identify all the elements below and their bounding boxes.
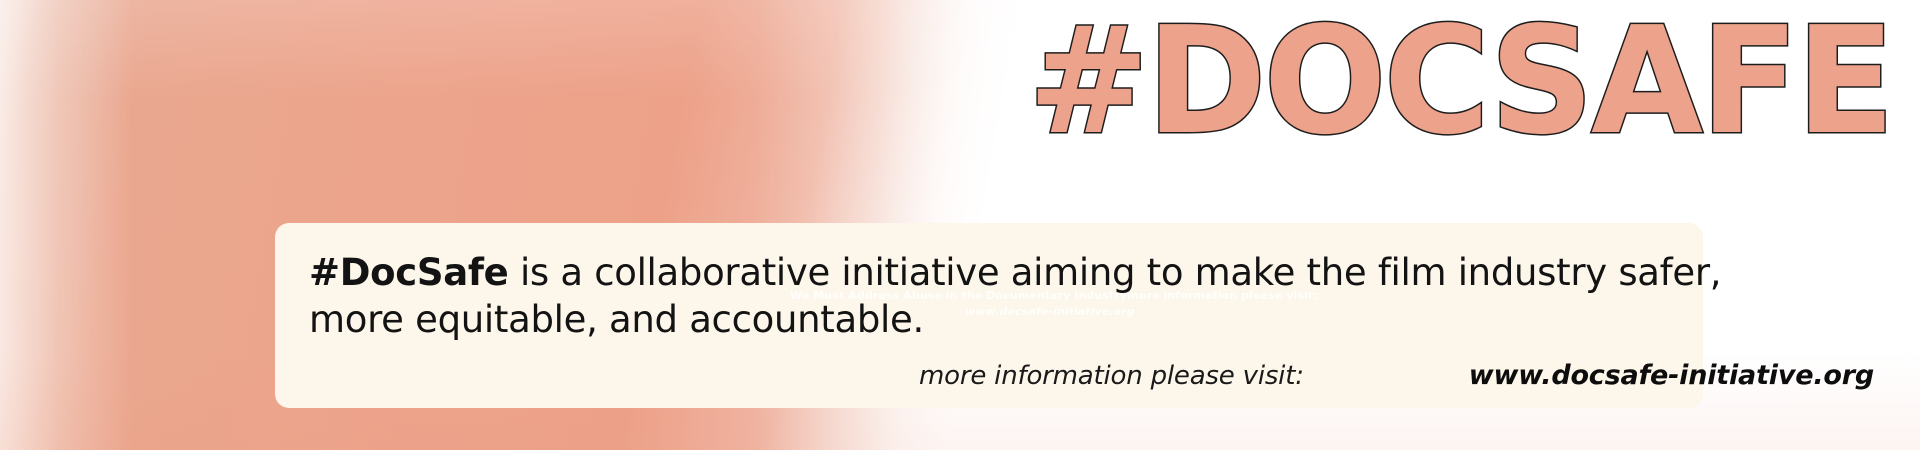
card-body-rest: is a collaborative initiative aiming to …	[508, 251, 1721, 294]
card-footer: more information please visit: www.docsa…	[309, 360, 1669, 391]
docsafe-banner: #DOCSAFE #DocSafe is a collaborative ini…	[0, 0, 1920, 450]
card-body-line-1: #DocSafe is a collaborative initiative a…	[309, 249, 1669, 296]
info-card: #DocSafe is a collaborative initiative a…	[275, 223, 1703, 408]
logo-svg: #DOCSAFE	[1020, 8, 1900, 168]
visit-label: more information please visit:	[919, 361, 1304, 391]
card-body-line-2: more equitable, and accountable.	[309, 296, 1669, 343]
docsafe-lead: #DocSafe	[309, 251, 508, 294]
card-body-text: #DocSafe is a collaborative initiative a…	[309, 249, 1669, 344]
website-url[interactable]: www.docsafe-initiative.org	[1469, 360, 1874, 391]
logo-text: #DOCSAFE	[1028, 8, 1892, 167]
docsafe-logo: #DOCSAFE	[1020, 8, 1900, 168]
